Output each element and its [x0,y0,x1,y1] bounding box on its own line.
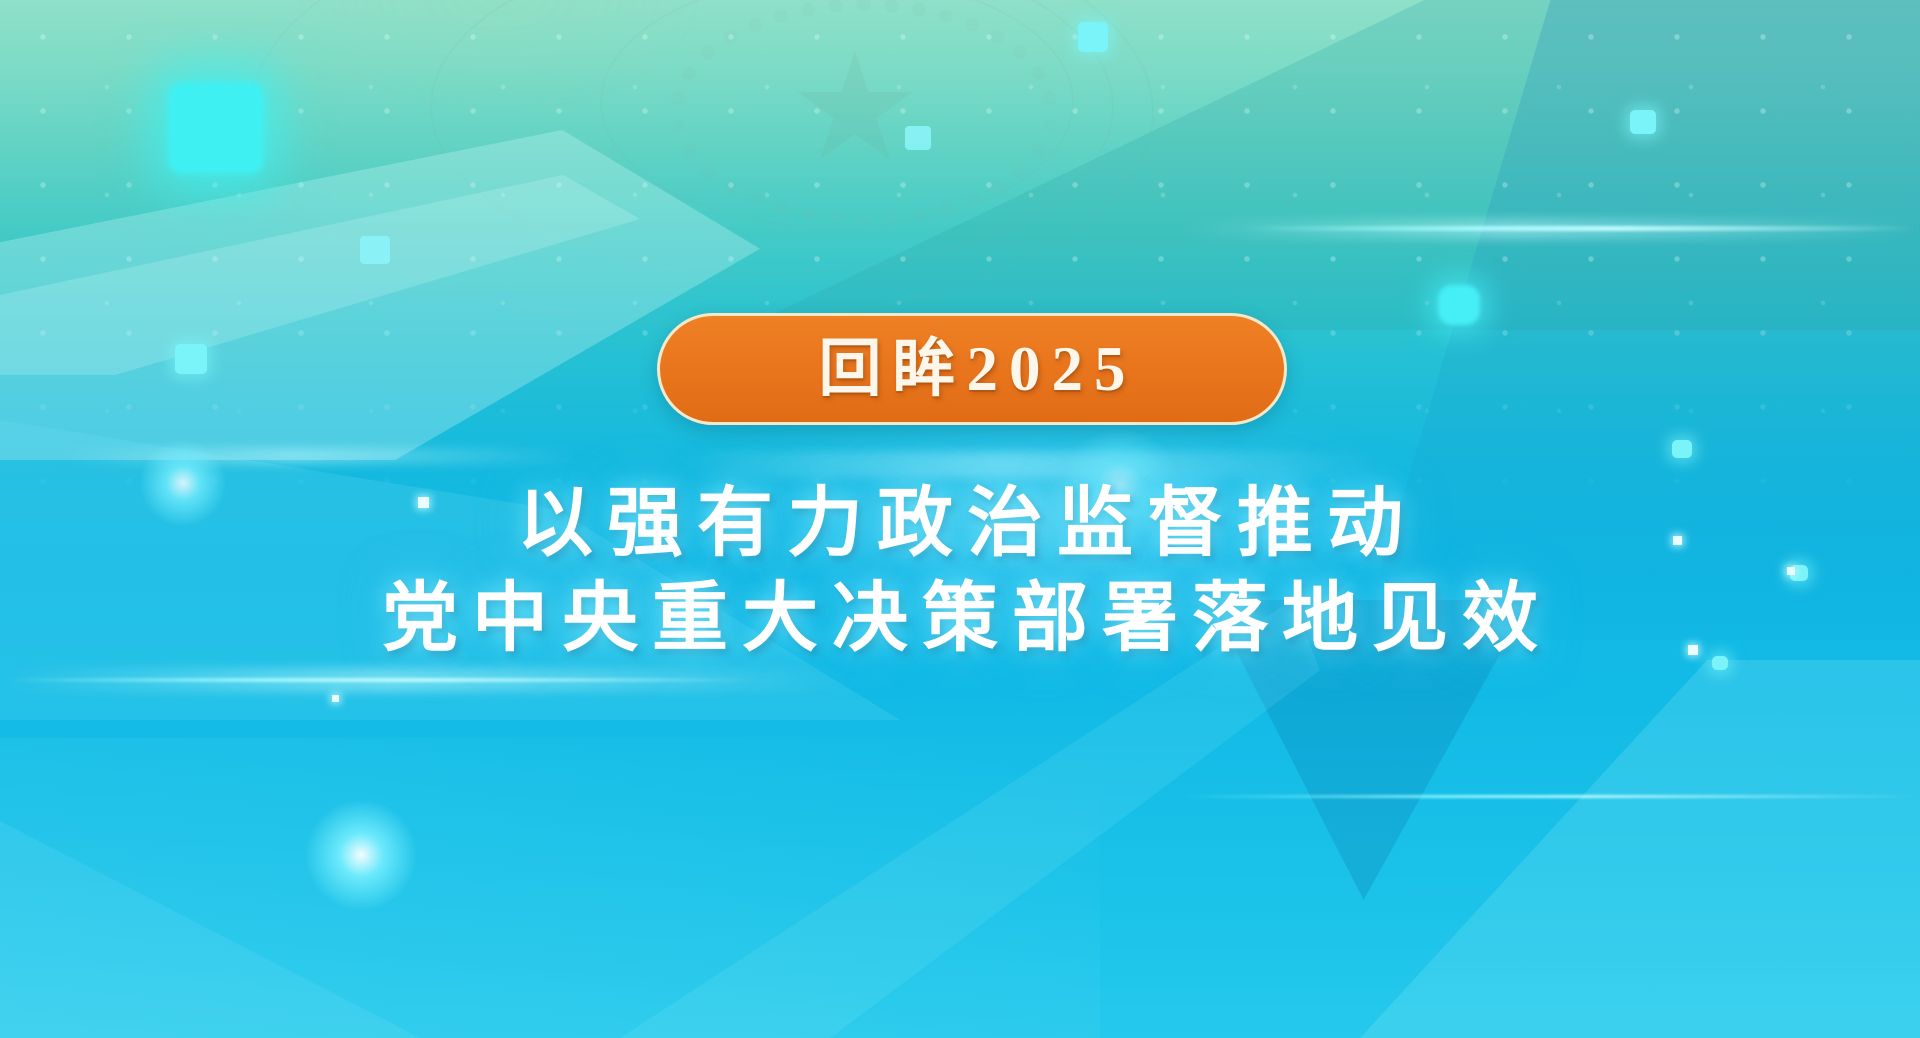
background-dot-texture [0,0,1920,520]
background-facet-top-right [740,0,1920,330]
background-facet-mid-left [0,420,900,720]
light-streak-left [0,678,760,682]
light-streak-top-right [1240,226,1920,231]
headline-line-2: 党中央重大决策部署落地见效 [0,571,1920,666]
glow-square-small-top [1078,22,1108,52]
glow-orb-center [1060,430,1180,540]
glow-square-small-upper-right [1630,110,1656,134]
background-facet-bottom-soft [0,738,1100,1038]
glow-square-small-left [175,344,207,374]
glow-square-flat-upper-left [360,236,390,264]
light-streak-mid-left [60,448,580,464]
background-facet-v-dark [1210,600,1530,900]
emblem-ring-inner [600,0,1074,229]
poster-headline: 以强有力政治监督推动 党中央重大决策部署落地见效 [0,476,1920,666]
year-badge-label: 回眸2025 [808,338,1137,401]
accent-tick-bottom-left [332,695,339,702]
headline-backglow [700,400,1400,630]
light-streak-bottom-right [1180,795,1920,798]
background-facet-top-left-streak [0,175,640,375]
star-icon [795,50,915,170]
light-streak-left-soft [0,668,860,692]
poster-canvas: 回眸2025 以强有力政治监督推动 党中央重大决策部署落地见效 [0,0,1920,1038]
background-facet-v-light-left [620,600,1320,1038]
background-facet-lower-left [0,760,420,1038]
emblem-ring-middle [430,0,1114,274]
glow-orb-mid-left [140,440,226,526]
emblem-glow [290,0,710,110]
background-facet-v-light-right [1360,660,1920,1038]
emblem-ring-outer [250,0,1154,324]
headline-line-1: 以强有力政治监督推动 [0,476,1920,571]
light-streak-top-right-soft [1180,219,1920,239]
accent-tick-left [418,497,429,508]
glow-square-mid-right [1438,285,1480,325]
year-badge[interactable]: 回眸2025 [657,313,1287,425]
glow-square-small-lower-right [1712,656,1728,670]
glow-orb-bottom-left [306,800,416,910]
accent-tick-right-lower [1688,645,1698,655]
light-streak-center [680,452,1380,478]
party-emblem-watermark [250,0,1350,300]
background-facet-right-band [1360,0,1920,640]
accent-tick-right-mid [1787,567,1795,575]
background-facet-top-left [0,130,760,460]
glow-square-small-right [1672,440,1692,458]
glow-square-small-far-right [1790,565,1808,581]
emblem-dotted-ring [670,0,1058,226]
glow-square-flat-top-center [905,126,931,150]
accent-tick-right-upper [1673,536,1682,545]
glow-square-large-left [168,82,264,174]
